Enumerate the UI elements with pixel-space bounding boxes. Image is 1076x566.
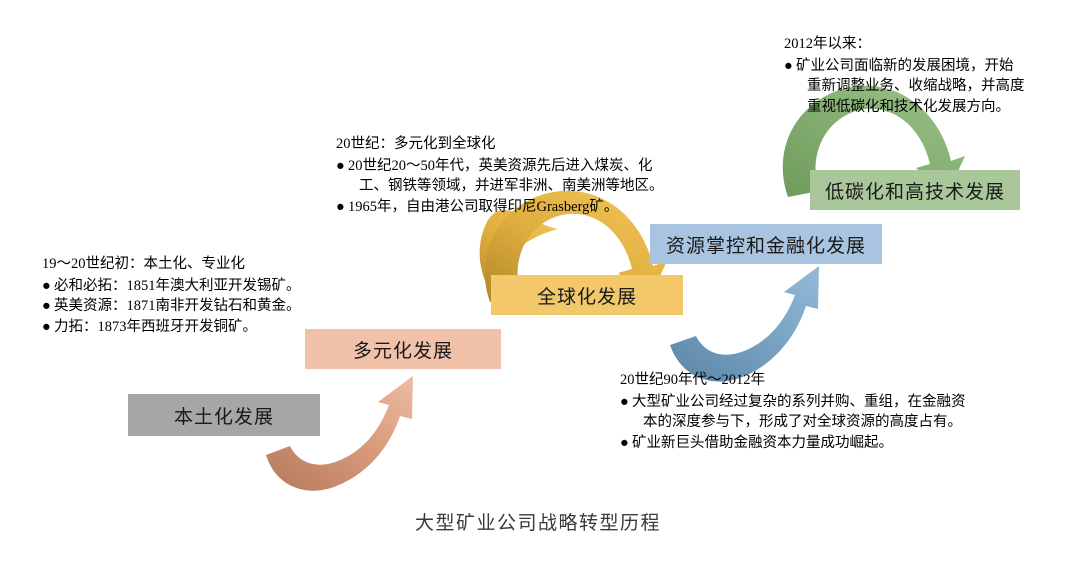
note-bullet-text: 力拓：1873年西班牙开发铜矿。 [54,319,257,335]
stage-label-globalization: 全球化发展 [537,282,637,309]
arrow-globalization-to-resource-control [670,266,819,382]
note-bullet: ●20世纪20～50年代，英美资源先后进入煤炭、化 [336,156,664,177]
note-bullet: ●矿业公司面临新的发展困境，开始 [784,56,1025,77]
stage-label-diversification: 多元化发展 [353,336,453,363]
note-bullet-text: 1965年，自由港公司取得印尼Grasberg矿。 [348,199,618,215]
bullet-dot-icon: ● [42,276,51,297]
note-since-2012: 2012年以来： ●矿业公司面临新的发展困境，开始 重新调整业务、收缩战略，并高… [784,34,1025,117]
stage-box-localization[interactable]: 本土化发展 [128,394,320,436]
note-1990s-2012: 20世纪90年代～2012年 ●大型矿业公司经过复杂的系列并购、重组，在金融资 … [620,370,966,453]
bullet-dot-icon: ● [784,56,793,77]
note-bullet: ●英美资源：1871南非开发钻石和黄金。 [42,296,301,317]
diagram-canvas: 本土化发展 多元化发展 全球化发展 资源掌控和金融化发展 低碳化和高技术发展 1… [0,0,1076,566]
diagram-caption: 大型矿业公司战略转型历程 [0,508,1076,535]
stage-box-low-carbon[interactable]: 低碳化和高技术发展 [810,170,1020,210]
note-bullet: ●1965年，自由港公司取得印尼Grasberg矿。 [336,197,664,218]
note-bullet-text: 大型矿业公司经过复杂的系列并购、重组，在金融资 [632,394,966,410]
note-bullet: ●大型矿业公司经过复杂的系列并购、重组，在金融资 [620,392,966,413]
stage-box-globalization[interactable]: 全球化发展 [491,275,683,315]
bullet-dot-icon: ● [336,197,345,218]
bullet-dot-icon: ● [42,296,51,317]
note-heading: 19～20世纪初：本土化、专业化 [42,254,301,275]
bullet-dot-icon: ● [336,156,345,177]
note-bullet: ●力拓：1873年西班牙开发铜矿。 [42,317,301,338]
note-heading: 20世纪90年代～2012年 [620,370,966,391]
bullet-dot-icon: ● [42,317,51,338]
note-continuation: 工、钢铁等领域，并进军非洲、南美洲等地区。 [336,176,664,197]
note-bullet-text: 必和必拓：1851年澳大利亚开发锡矿。 [54,278,301,294]
stage-box-diversification[interactable]: 多元化发展 [305,329,501,369]
note-heading: 2012年以来： [784,34,1025,55]
bullet-dot-icon: ● [620,392,629,413]
stage-label-low-carbon: 低碳化和高技术发展 [825,177,1005,204]
stage-label-localization: 本土化发展 [174,402,274,429]
note-bullet-text: 矿业新巨头借助金融资本力量成功崛起。 [632,435,893,451]
note-continuation: 重新调整业务、收缩战略，并高度 [784,76,1025,97]
note-20-century: 20世纪：多元化到全球化 ●20世纪20～50年代，英美资源先后进入煤炭、化 工… [336,134,664,217]
note-bullet: ●矿业新巨头借助金融资本力量成功崛起。 [620,433,966,454]
note-continuation: 重视低碳化和技术化发展方向。 [784,97,1025,118]
note-19-20-century: 19～20世纪初：本土化、专业化 ●必和必拓：1851年澳大利亚开发锡矿。 ●英… [42,254,301,337]
note-bullet: ●必和必拓：1851年澳大利亚开发锡矿。 [42,276,301,297]
note-continuation: 本的深度参与下，形成了对全球资源的高度占有。 [620,412,966,433]
stage-label-resource-control: 资源掌控和金融化发展 [666,231,866,258]
bullet-dot-icon: ● [620,433,629,454]
note-bullet-text: 英美资源：1871南非开发钻石和黄金。 [54,298,301,314]
note-heading: 20世纪：多元化到全球化 [336,134,664,155]
note-bullet-text: 矿业公司面临新的发展困境，开始 [796,58,1014,74]
note-bullet-text: 20世纪20～50年代，英美资源先后进入煤炭、化 [348,158,653,174]
stage-box-resource-control[interactable]: 资源掌控和金融化发展 [650,224,882,264]
